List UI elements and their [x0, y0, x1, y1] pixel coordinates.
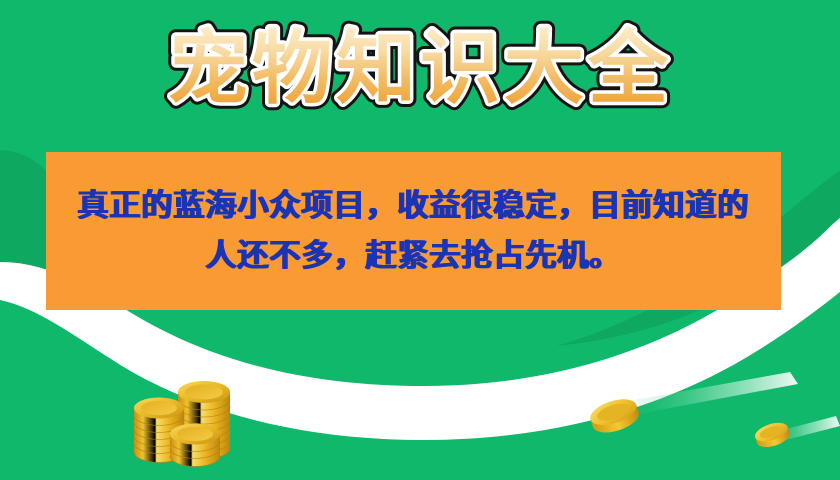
message-box: 真正的蓝海小众项目，收益很稳定，目前知道的人还不多，赶紧去抢占先机。	[46, 152, 781, 310]
gold-coin-single-small	[752, 418, 792, 450]
coin-stack-short	[170, 424, 220, 467]
poster-canvas: 宠物知识大全 宠物知识大全 宠物知识大全 真正的蓝海小众项目，收益很稳定，目前知…	[0, 0, 840, 480]
gold-coin-stack	[124, 368, 244, 468]
message-text: 真正的蓝海小众项目，收益很稳定，目前知道的人还不多，赶紧去抢占先机。	[64, 181, 764, 281]
gold-coin-single-large	[586, 392, 642, 436]
